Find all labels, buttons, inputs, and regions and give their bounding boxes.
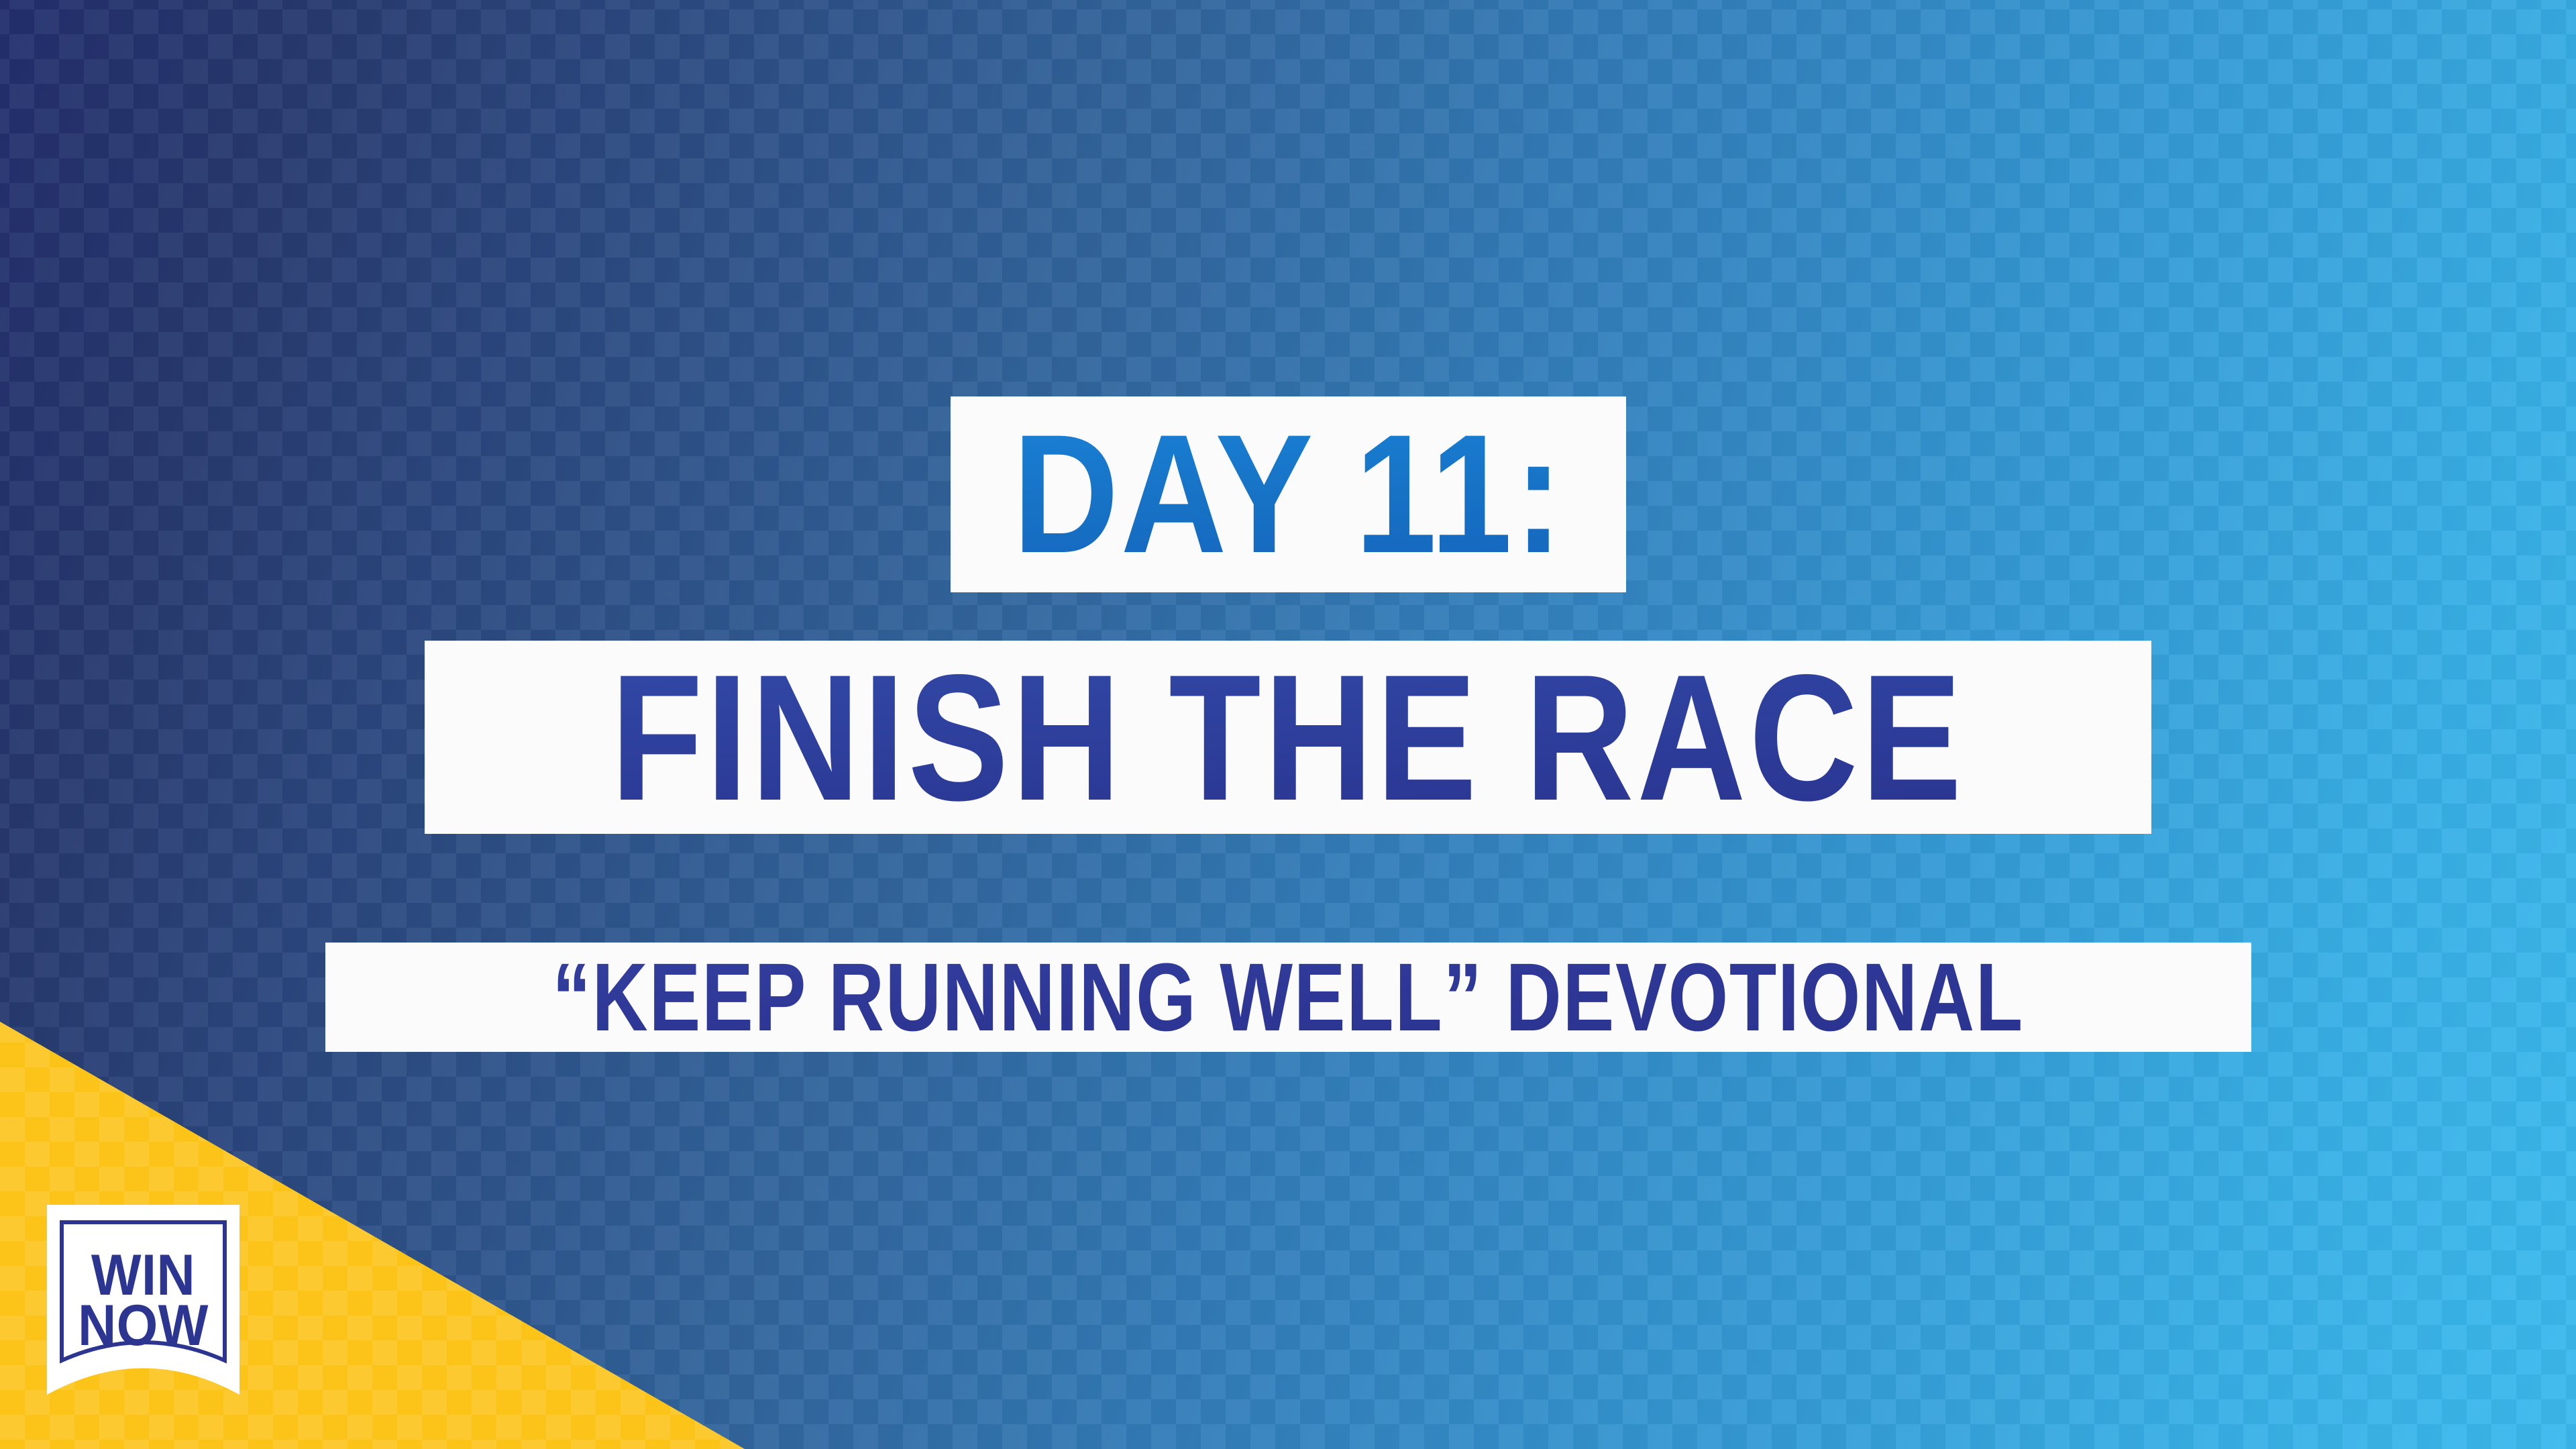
title-card-canvas: DAY 11: FINISH THE RACE “KEEP RUNNING WE… (0, 0, 2576, 1449)
logo-word-now: NOW (78, 1293, 209, 1358)
eyebrow-banner: DAY 11: (951, 396, 1626, 592)
page-title: FINISH THE RACE (611, 647, 1966, 827)
title-banner: FINISH THE RACE (425, 641, 2151, 834)
eyebrow-text: DAY 11: (1012, 410, 1564, 579)
subtitle-banner: “KEEP RUNNING WELL” DEVOTIONAL (325, 943, 2251, 1052)
logo-now-text: NOW (78, 1293, 209, 1358)
win-now-logo: WIN NOW (47, 1205, 239, 1413)
subtitle-text: “KEEP RUNNING WELL” DEVOTIONAL (553, 949, 2025, 1046)
